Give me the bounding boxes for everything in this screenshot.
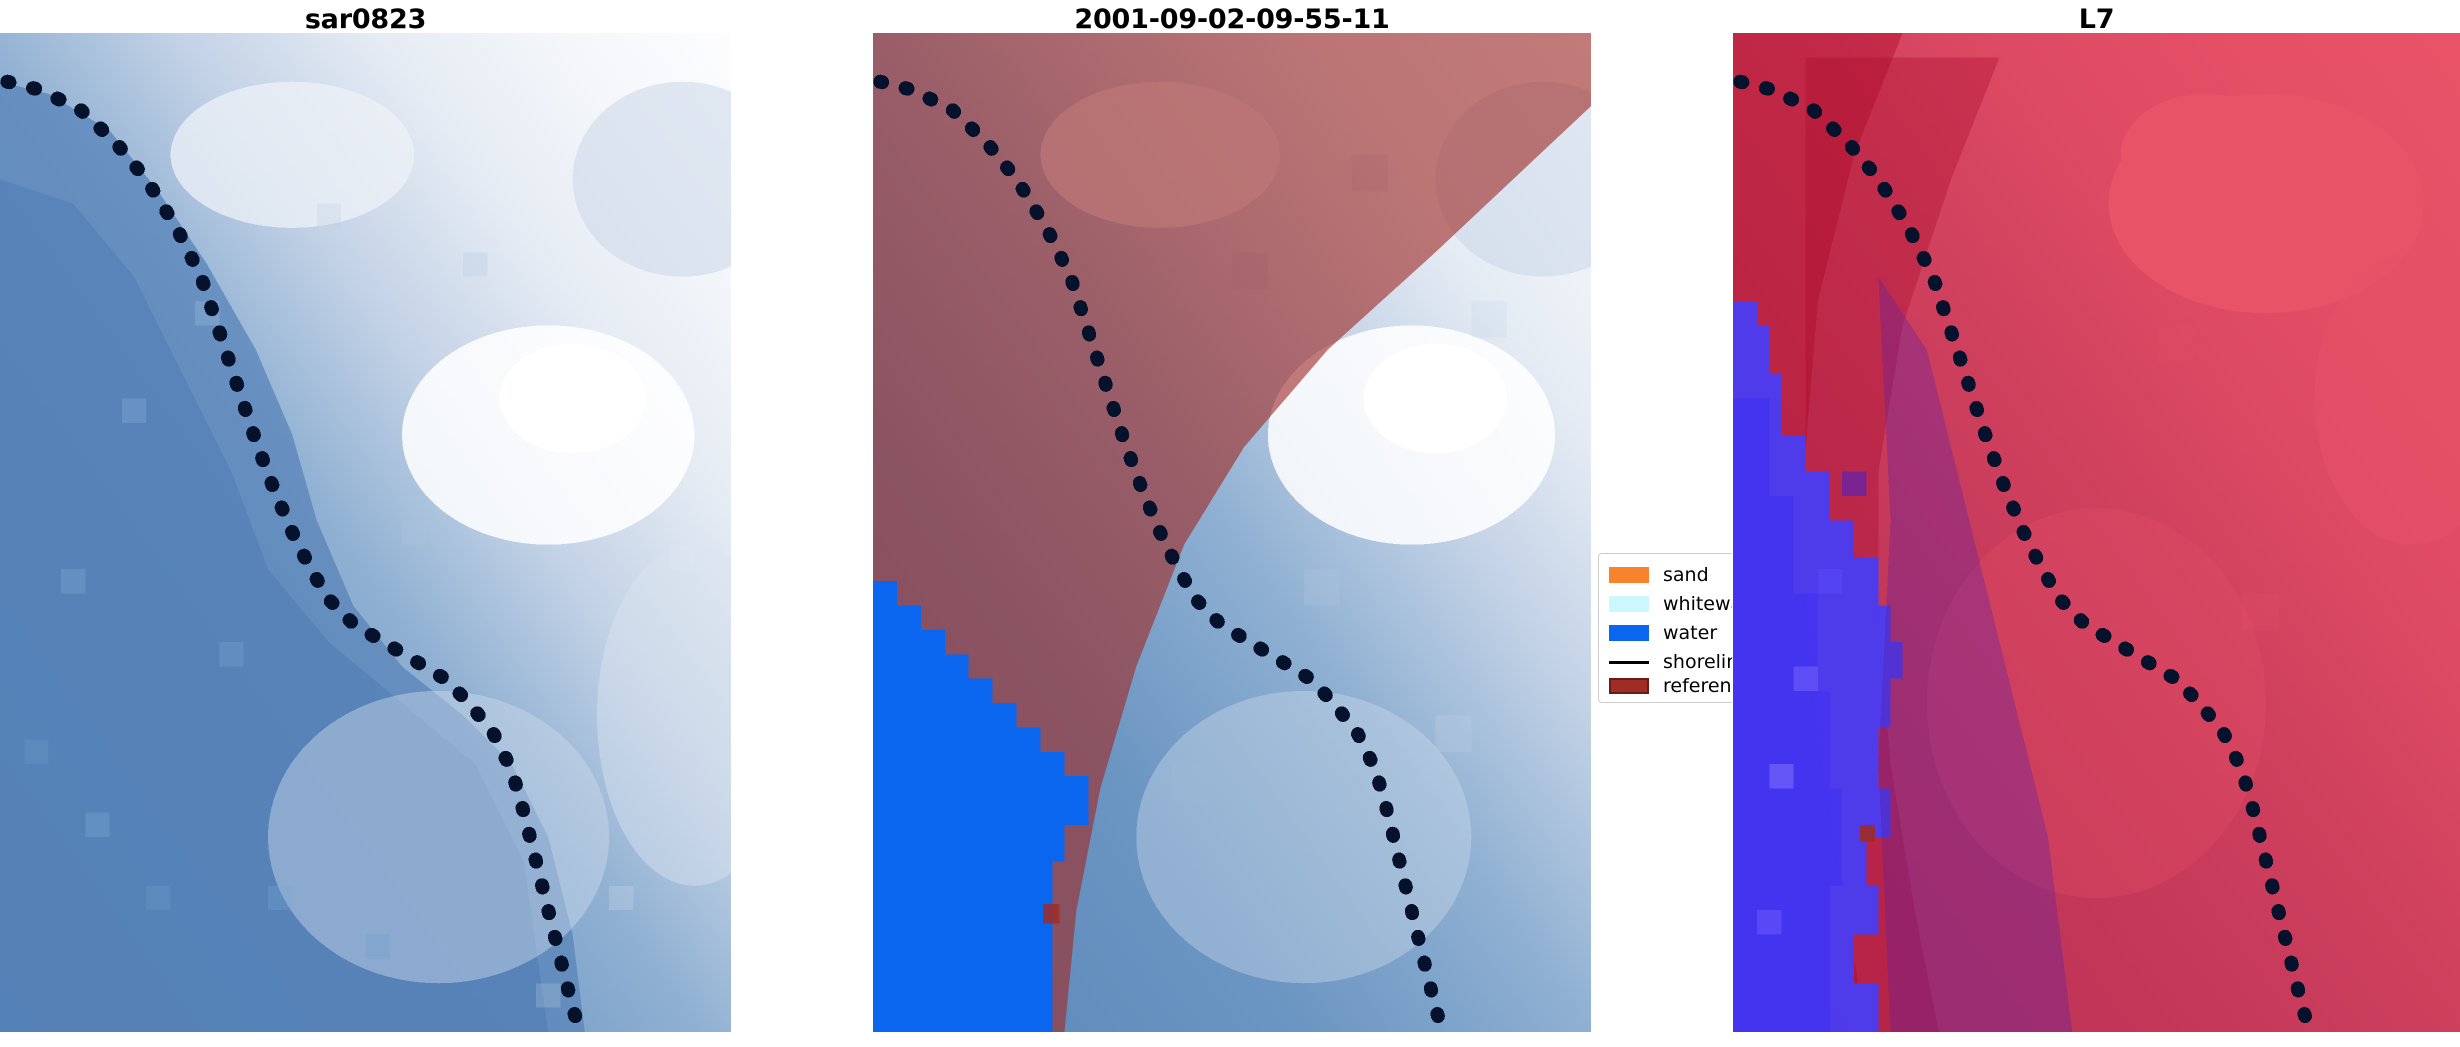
panel-classified[interactable] (873, 33, 1591, 1032)
legend-item-reference-shoreline: reference shoreline (1609, 673, 1732, 699)
sand-swatch (1609, 567, 1649, 583)
panel-sar[interactable] (0, 33, 731, 1032)
legend-label-shoreline: shoreline (1663, 651, 1732, 673)
legend-label-reference-shoreline: reference shoreline (1663, 675, 1732, 697)
legend: sand whitewater water shoreline referenc… (1598, 553, 1732, 703)
l7-raster (1733, 33, 2460, 1032)
panel-l7[interactable] (1733, 33, 2460, 1032)
panel-title-classified: 2001-09-02-09-55-11 (873, 4, 1591, 35)
panel-title-sar: sar0823 (0, 4, 731, 35)
legend-item-whitewater: whitewater (1609, 591, 1732, 617)
classified-raster (873, 33, 1591, 1032)
water-swatch (1609, 625, 1649, 641)
legend-label-water: water (1663, 622, 1717, 644)
legend-label-sand: sand (1663, 564, 1709, 586)
panel-title-l7: L7 (1733, 4, 2460, 35)
legend-item-sand: sand (1609, 562, 1709, 588)
legend-item-shoreline: shoreline (1609, 649, 1732, 675)
legend-label-whitewater: whitewater (1663, 593, 1732, 615)
legend-item-water: water (1609, 620, 1717, 646)
figure-canvas: sar0823 (0, 0, 2460, 1047)
shoreline-line-swatch (1609, 661, 1649, 664)
sar-raster (0, 33, 731, 1032)
reference-shoreline-swatch (1609, 678, 1649, 694)
whitewater-swatch (1609, 596, 1649, 612)
legend-box: sand whitewater water shoreline referenc… (1598, 553, 1732, 703)
